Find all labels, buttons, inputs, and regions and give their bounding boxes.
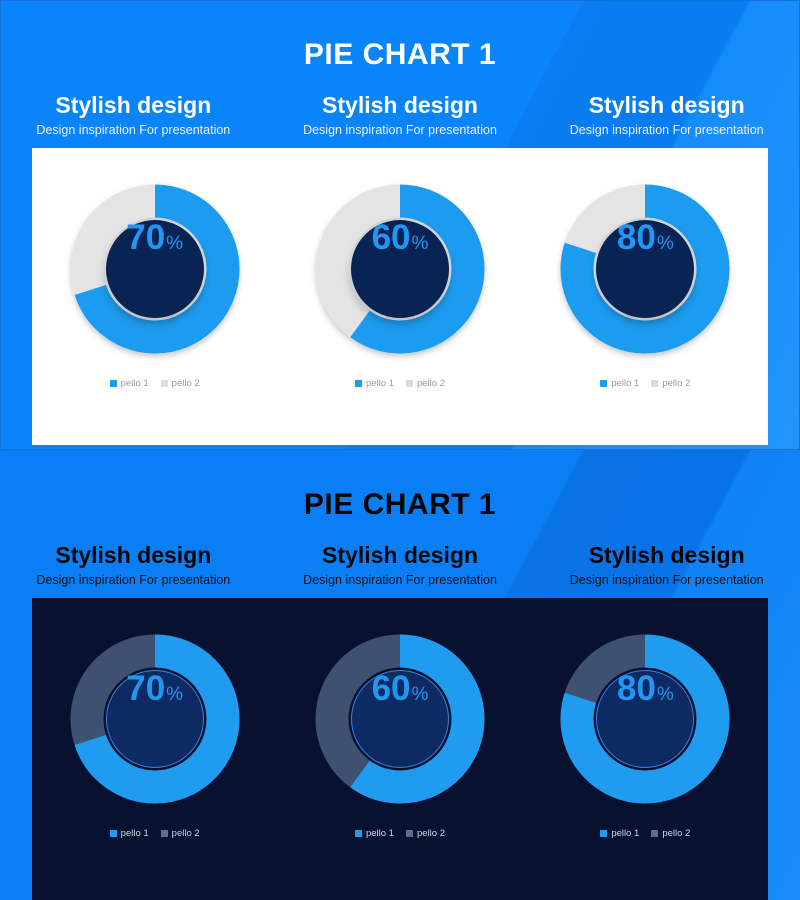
legend-swatch-blue xyxy=(600,380,607,387)
donut-chart-cell: 80% pello 1 pello 2 xyxy=(523,626,768,839)
donut-center-value: 60% xyxy=(351,220,449,318)
legend-item-series-1[interactable]: pello 1 xyxy=(600,378,639,389)
chart-legend: pello 1 pello 2 xyxy=(600,828,690,839)
heading-subtitle: Design inspiration For presentation xyxy=(267,122,534,138)
legend-swatch-blue xyxy=(110,830,117,837)
legend-swatch-grey xyxy=(161,380,168,387)
legend-label: pello 1 xyxy=(611,828,639,839)
percent-sign: % xyxy=(412,234,429,253)
legend-swatch-blue xyxy=(355,830,362,837)
chart-legend: pello 1 pello 2 xyxy=(600,378,690,389)
donut-chart-cell: 60% pello 1 pello 2 xyxy=(277,626,522,839)
heading-subtitle: Design inspiration For presentation xyxy=(0,572,267,588)
page-title: PIE CHART 1 xyxy=(0,450,800,522)
heading-subtitle: Design inspiration For presentation xyxy=(267,572,534,588)
heading-subtitle: Design inspiration For presentation xyxy=(533,572,800,588)
legend-label: pello 2 xyxy=(662,378,690,389)
heading-col-1: Stylish design Design inspiration For pr… xyxy=(0,92,267,139)
heading-col-1: Stylish design Design inspiration For pr… xyxy=(0,542,267,589)
legend-swatch-grey xyxy=(651,380,658,387)
slide-dark-theme: PIE CHART 1 Stylish design Design inspir… xyxy=(0,450,800,900)
donut-chart[interactable]: 60% xyxy=(307,626,493,812)
donut-center-value: 70% xyxy=(106,670,204,768)
legend-item-series-1[interactable]: pello 1 xyxy=(600,828,639,839)
donut-chart-cell: 70% pello 1 pello 2 xyxy=(32,176,277,389)
heading-title: Stylish design xyxy=(267,92,534,118)
donut-center-value: 60% xyxy=(351,670,449,768)
heading-col-2: Stylish design Design inspiration For pr… xyxy=(267,542,534,589)
legend-swatch-blue xyxy=(355,380,362,387)
legend-item-series-2[interactable]: pello 2 xyxy=(651,828,690,839)
donut-center-value: 80% xyxy=(596,220,694,318)
percent-sign: % xyxy=(657,685,674,704)
donut-chart-cell: 60% pello 1 pello 2 xyxy=(277,176,522,389)
percent-sign: % xyxy=(166,685,183,704)
legend-swatch-grey xyxy=(651,830,658,837)
chart-panel-dark: 70% pello 1 pello 2 xyxy=(32,598,768,900)
donut-center-value: 80% xyxy=(596,670,694,768)
percent-number: 70 xyxy=(126,671,165,706)
legend-swatch-grey xyxy=(406,830,413,837)
legend-label: pello 1 xyxy=(611,378,639,389)
legend-label: pello 2 xyxy=(172,828,200,839)
donut-chart-cell: 80% pello 1 pello 2 xyxy=(523,176,768,389)
heading-title: Stylish design xyxy=(533,542,800,568)
legend-label: pello 1 xyxy=(121,378,149,389)
percent-number: 80 xyxy=(617,671,656,706)
legend-label: pello 2 xyxy=(417,828,445,839)
heading-row: Stylish design Design inspiration For pr… xyxy=(0,92,800,139)
charts-row: 70% pello 1 pello 2 xyxy=(32,598,768,900)
slide-light-theme: PIE CHART 1 Stylish design Design inspir… xyxy=(0,0,800,450)
legend-label: pello 1 xyxy=(366,828,394,839)
percent-sign: % xyxy=(166,234,183,253)
legend-swatch-grey xyxy=(406,380,413,387)
legend-item-series-2[interactable]: pello 2 xyxy=(406,828,445,839)
heading-col-3: Stylish design Design inspiration For pr… xyxy=(533,542,800,589)
percent-number: 70 xyxy=(126,220,165,255)
chart-legend: pello 1 pello 2 xyxy=(355,378,445,389)
legend-label: pello 2 xyxy=(172,378,200,389)
donut-chart-cell: 70% pello 1 pello 2 xyxy=(32,626,277,839)
percent-number: 60 xyxy=(372,220,411,255)
charts-row: 70% pello 1 pello 2 xyxy=(32,148,768,445)
legend-swatch-blue xyxy=(600,830,607,837)
chart-legend: pello 1 pello 2 xyxy=(110,828,200,839)
chart-legend: pello 1 pello 2 xyxy=(110,378,200,389)
donut-center-value: 70% xyxy=(106,220,204,318)
donut-chart[interactable]: 60% xyxy=(307,176,493,362)
legend-label: pello 1 xyxy=(366,378,394,389)
donut-chart[interactable]: 70% xyxy=(62,626,248,812)
legend-item-series-2[interactable]: pello 2 xyxy=(161,378,200,389)
donut-chart[interactable]: 80% xyxy=(552,176,738,362)
percent-sign: % xyxy=(657,234,674,253)
page-title: PIE CHART 1 xyxy=(0,0,800,72)
percent-sign: % xyxy=(412,685,429,704)
legend-item-series-1[interactable]: pello 1 xyxy=(355,378,394,389)
heading-subtitle: Design inspiration For presentation xyxy=(533,122,800,138)
legend-label: pello 1 xyxy=(121,828,149,839)
legend-item-series-2[interactable]: pello 2 xyxy=(651,378,690,389)
heading-title: Stylish design xyxy=(0,542,267,568)
heading-row: Stylish design Design inspiration For pr… xyxy=(0,542,800,589)
donut-chart[interactable]: 80% xyxy=(552,626,738,812)
chart-legend: pello 1 pello 2 xyxy=(355,828,445,839)
heading-title: Stylish design xyxy=(533,92,800,118)
legend-item-series-2[interactable]: pello 2 xyxy=(406,378,445,389)
donut-chart[interactable]: 70% xyxy=(62,176,248,362)
chart-panel-light: 70% pello 1 pello 2 xyxy=(32,148,768,445)
legend-item-series-1[interactable]: pello 1 xyxy=(110,378,149,389)
heading-title: Stylish design xyxy=(0,92,267,118)
legend-swatch-blue xyxy=(110,380,117,387)
legend-item-series-1[interactable]: pello 1 xyxy=(355,828,394,839)
heading-title: Stylish design xyxy=(267,542,534,568)
legend-item-series-2[interactable]: pello 2 xyxy=(161,828,200,839)
percent-number: 60 xyxy=(372,671,411,706)
legend-label: pello 2 xyxy=(662,828,690,839)
legend-swatch-grey xyxy=(161,830,168,837)
percent-number: 80 xyxy=(617,220,656,255)
heading-subtitle: Design inspiration For presentation xyxy=(0,122,267,138)
legend-item-series-1[interactable]: pello 1 xyxy=(110,828,149,839)
heading-col-2: Stylish design Design inspiration For pr… xyxy=(267,92,534,139)
heading-col-3: Stylish design Design inspiration For pr… xyxy=(533,92,800,139)
legend-label: pello 2 xyxy=(417,378,445,389)
